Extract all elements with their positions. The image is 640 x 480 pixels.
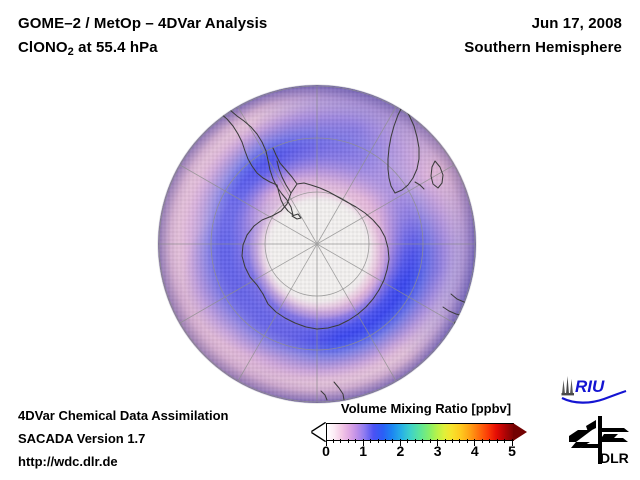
colorbar-tick-label: 4 (471, 443, 479, 459)
footer-version: SACADA Version 1.7 (18, 427, 229, 450)
footer-project: 4DVar Chemical Data Assimilation (18, 404, 229, 427)
species-level: at 55.4 hPa (74, 39, 158, 56)
dlr-logo: DLR (566, 414, 632, 466)
colorbar-title: Volume Mixing Ratio [ppbv] (312, 401, 540, 416)
colorbar-tick-label: 5 (508, 443, 516, 459)
colorbar-tick-label: 3 (434, 443, 442, 459)
observation-date: Jun 17, 2008 (464, 12, 622, 36)
riu-wordmark: RIU (575, 377, 605, 396)
colorbar-tick-label: 2 (396, 443, 404, 459)
riu-logo: RIU (560, 374, 628, 404)
species-subscript: 2 (68, 46, 74, 58)
colorbar-under-cap (312, 423, 326, 441)
polar-map (158, 85, 476, 403)
footer-url[interactable]: http://wdc.dlr.de (18, 450, 229, 473)
riu-towers-icon (562, 376, 575, 395)
colorbar-tick-label: 1 (359, 443, 367, 459)
colorbar-over-cap (513, 423, 527, 441)
colorbar: Volume Mixing Ratio [ppbv] 012345 (312, 401, 540, 461)
instrument-title: GOME–2 / MetOp – 4DVar Analysis (18, 12, 267, 36)
species-title: ClONO2 at 55.4 hPa (18, 36, 267, 61)
header-right-block: Jun 17, 2008 Southern Hemisphere (464, 12, 622, 60)
colorbar-tick-labels: 012345 (326, 443, 512, 461)
colorbar-row (312, 421, 540, 441)
footer-left-block: 4DVar Chemical Data Assimilation SACADA … (18, 404, 229, 473)
region-label: Southern Hemisphere (464, 36, 622, 60)
species-name: ClONO (18, 39, 68, 56)
dlr-wordmark: DLR (600, 450, 629, 466)
colorbar-tick-label: 0 (322, 443, 330, 459)
globe-disc (158, 85, 476, 403)
header-left-block: GOME–2 / MetOp – 4DVar Analysis ClONO2 a… (18, 12, 267, 61)
coastline-outlines (158, 85, 476, 403)
